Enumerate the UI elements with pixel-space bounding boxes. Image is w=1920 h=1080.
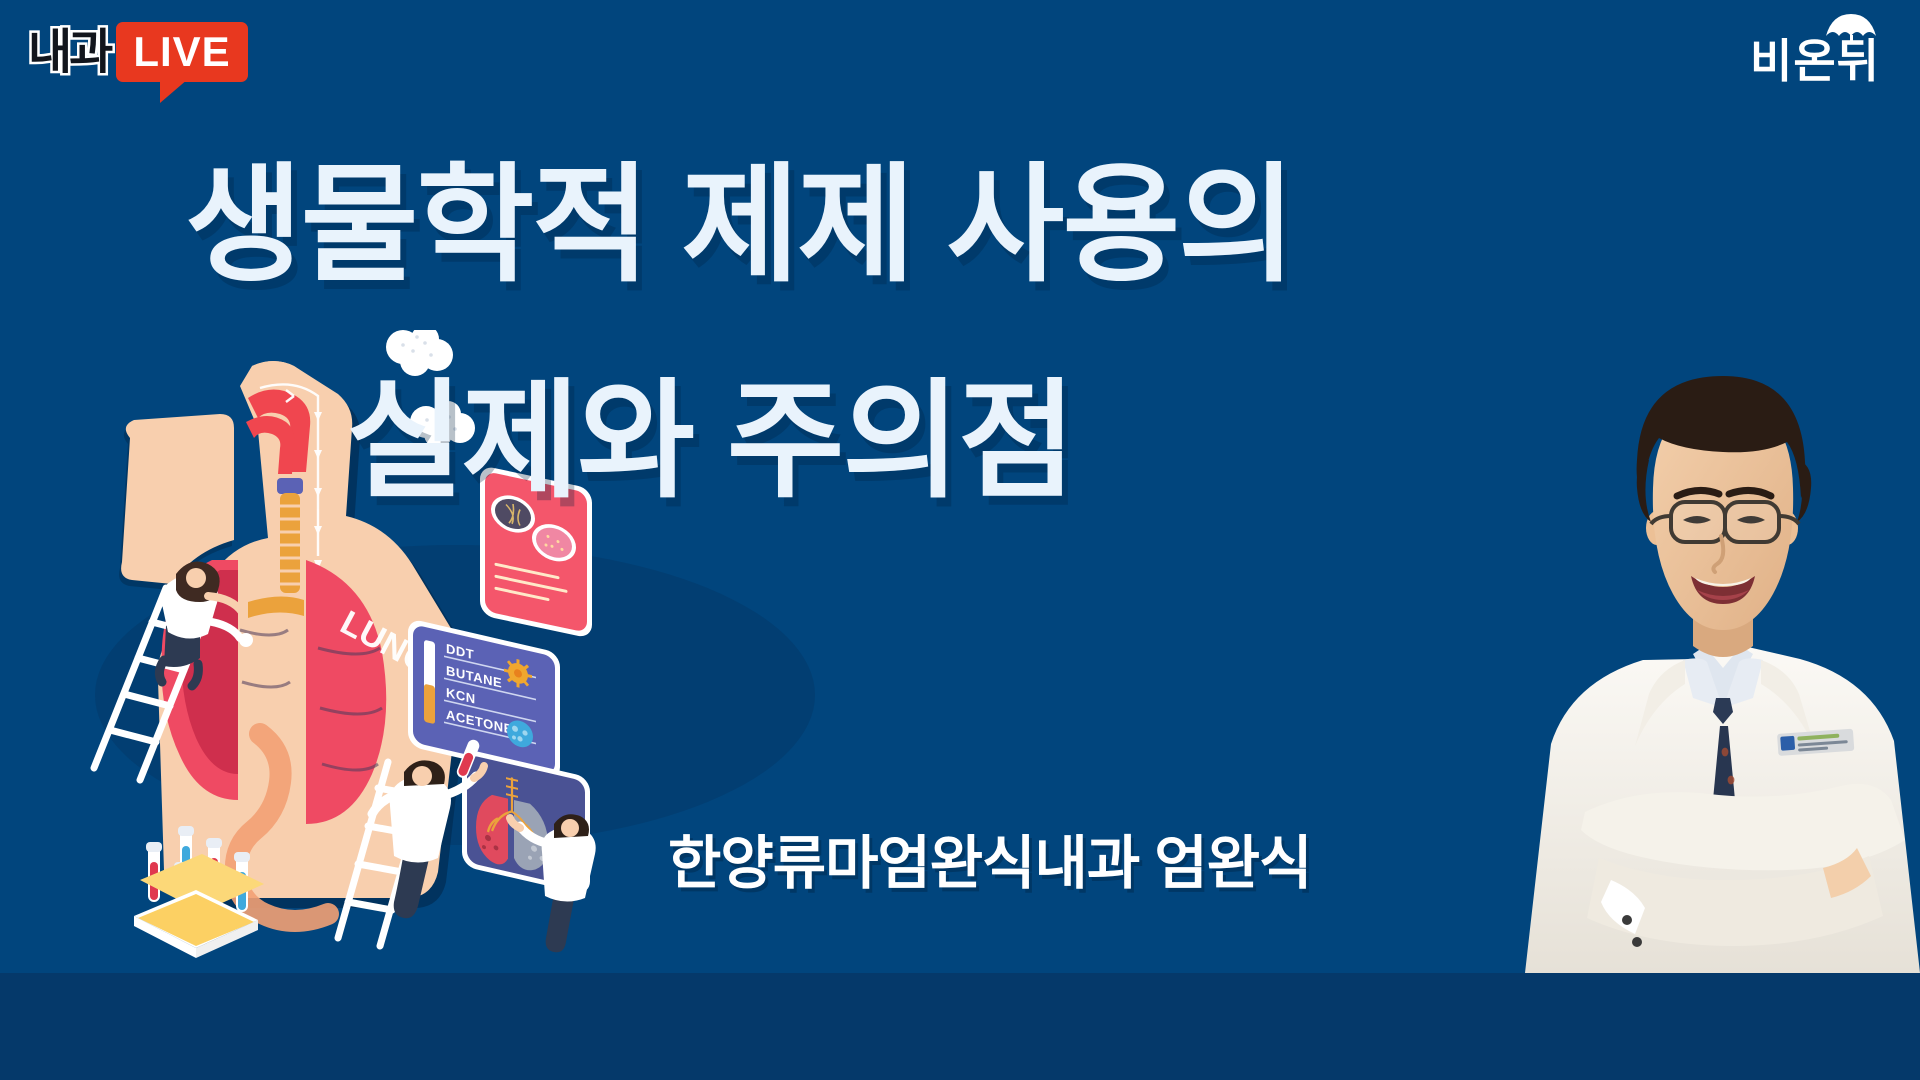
- live-badge: LIVE: [116, 22, 247, 82]
- title-block: 생물학적 제제 사용의 실제와 주의점: [0, 150, 1560, 518]
- program-category-label: 내과: [28, 22, 110, 84]
- presenter-name: 한양류마엄완식내과 엄완식: [668, 832, 1311, 896]
- broadcast-title-card: LUNG: [0, 0, 1920, 1080]
- doctor-figure-screen: [510, 814, 596, 952]
- title-line-1: 생물학적 제제 사용의: [0, 150, 1560, 302]
- presenter-photo: [1525, 360, 1920, 973]
- title-line-2: 실제와 주의점: [0, 366, 1420, 518]
- live-label: LIVE: [133, 31, 230, 73]
- umbrella-icon: [1824, 14, 1878, 44]
- footer-band: [0, 973, 1920, 1080]
- program-badge: 내과 LIVE: [28, 22, 248, 90]
- brand-logo: 비온뒤: [1750, 36, 1880, 86]
